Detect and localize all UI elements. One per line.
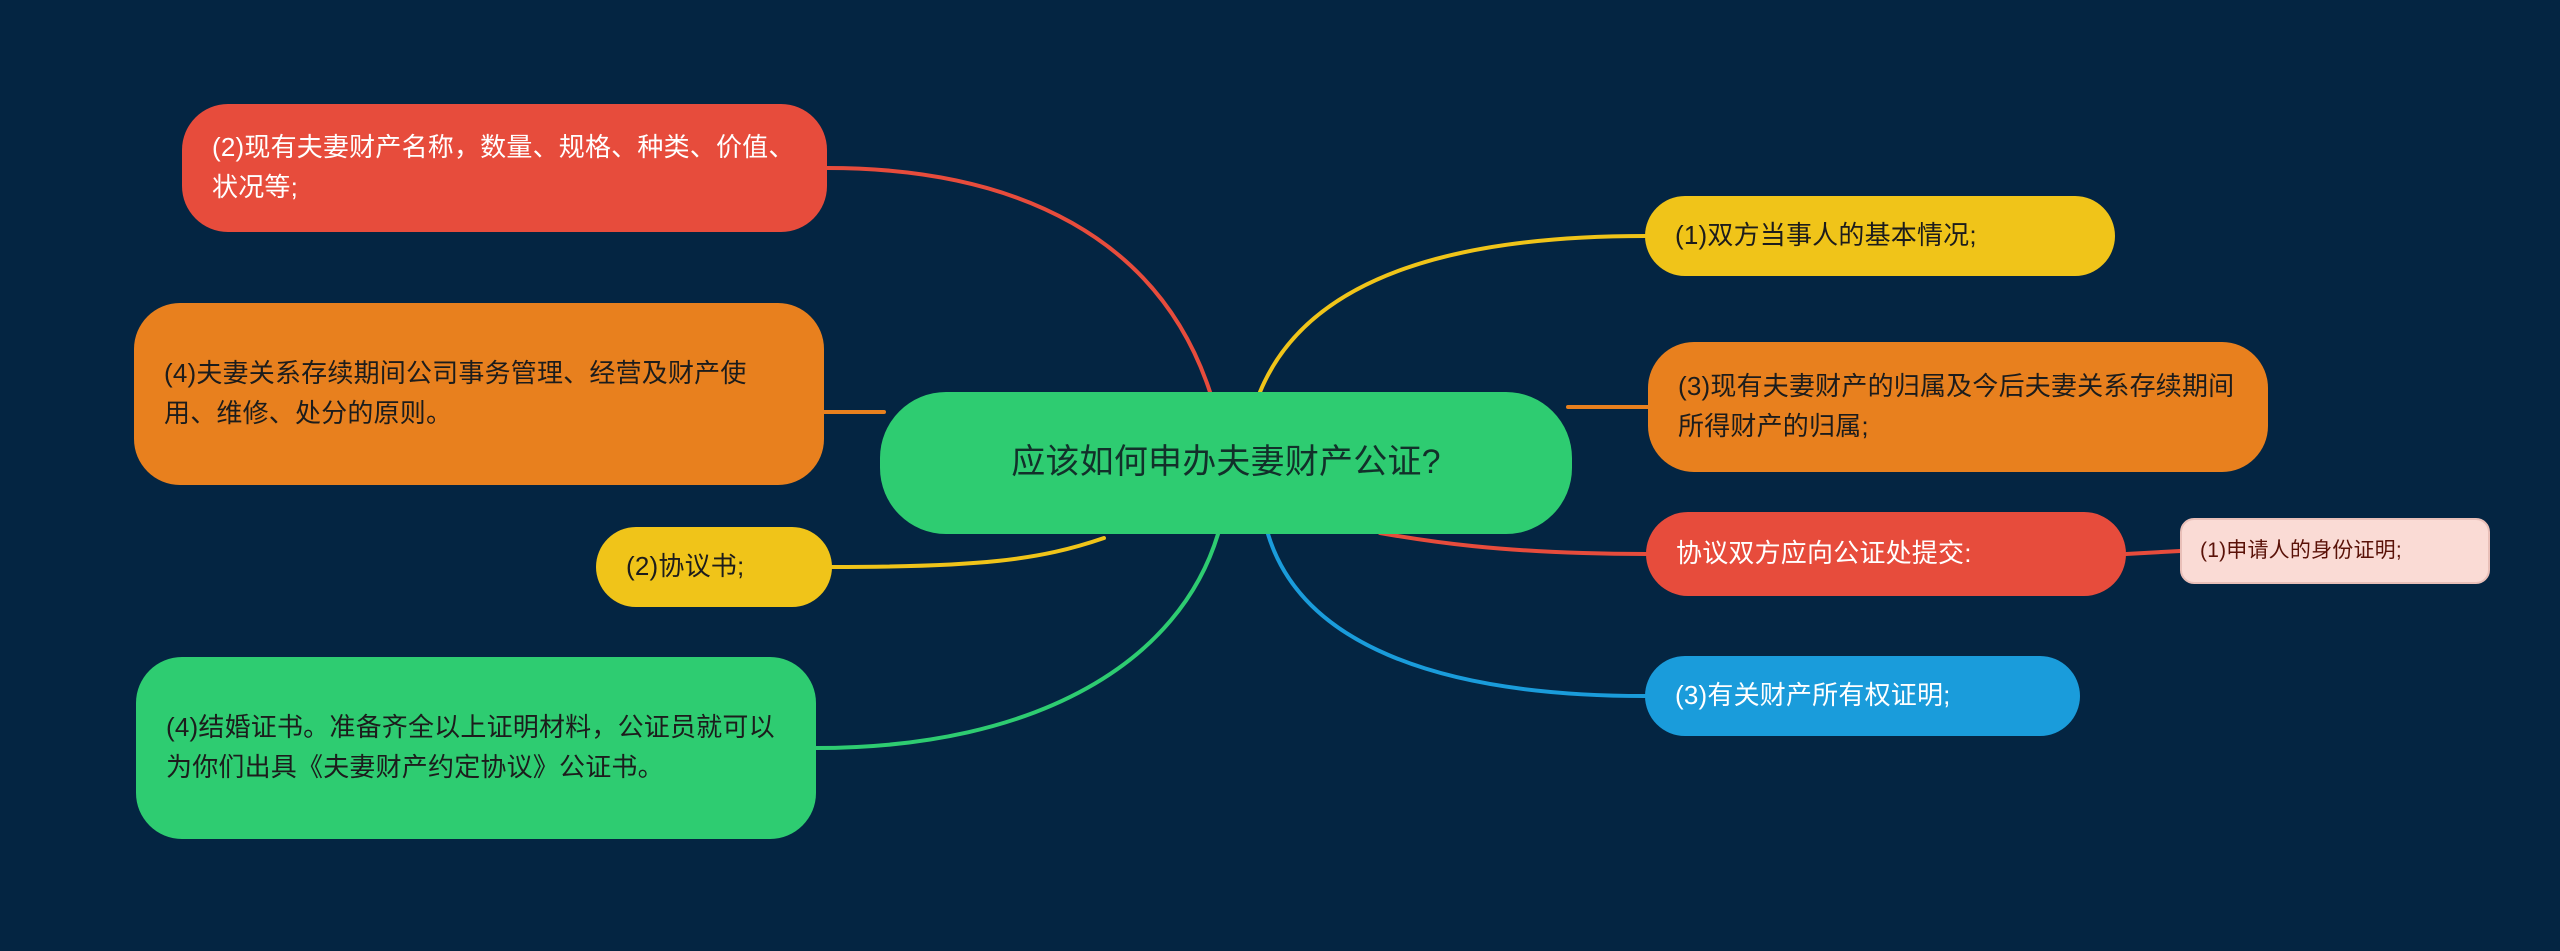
branch-property-ownership-label: (3)现有夫妻财产的归属及今后夫妻关系存续期间所得财产的归属;: [1678, 367, 2238, 446]
branch-ownership-proof-label: (3)有关财产所有权证明;: [1675, 676, 2050, 716]
mindmap-canvas: 应该如何申办夫妻财产公证?(2)现有夫妻财产名称，数量、规格、种类、价值、状况等…: [0, 0, 2560, 951]
branch-management-principles[interactable]: (4)夫妻关系存续期间公司事务管理、经营及财产使用、维修、处分的原则。: [134, 303, 824, 485]
branch-ownership-proof[interactable]: (3)有关财产所有权证明;: [1645, 656, 2080, 736]
edge-root-to-agreement-document: [832, 538, 1104, 567]
branch-basic-situation[interactable]: (1)双方当事人的基本情况;: [1645, 196, 2115, 276]
branch-property-description[interactable]: (2)现有夫妻财产名称，数量、规格、种类、价值、状况等;: [182, 104, 827, 232]
root-node[interactable]: 应该如何申办夫妻财产公证?: [880, 392, 1572, 534]
branch-marriage-certificate[interactable]: (4)结婚证书。准备齐全以上证明材料，公证员就可以为你们出具《夫妻财产约定协议》…: [136, 657, 816, 839]
branch-agreement-document[interactable]: (2)协议书;: [596, 527, 832, 607]
branch-management-principles-label: (4)夫妻关系存续期间公司事务管理、经营及财产使用、维修、处分的原则。: [164, 354, 794, 433]
edge-submit-to-identity-proof: [2126, 551, 2180, 554]
edge-root-to-basic-situation: [1260, 236, 1645, 392]
branch-property-ownership[interactable]: (3)现有夫妻财产的归属及今后夫妻关系存续期间所得财产的归属;: [1648, 342, 2268, 472]
branch-submit-to-notary-label: 协议双方应向公证处提交:: [1676, 534, 2096, 574]
leaf-identity-proof[interactable]: (1)申请人的身份证明;: [2180, 518, 2490, 584]
edge-root-to-ownership-proof: [1268, 534, 1645, 696]
branch-marriage-certificate-label: (4)结婚证书。准备齐全以上证明材料，公证员就可以为你们出具《夫妻财产约定协议》…: [166, 708, 786, 787]
leaf-identity-proof-label: (1)申请人的身份证明;: [2200, 535, 2470, 567]
branch-property-description-label: (2)现有夫妻财产名称，数量、规格、种类、价值、状况等;: [212, 128, 797, 207]
branch-basic-situation-label: (1)双方当事人的基本情况;: [1675, 216, 2085, 256]
branch-submit-to-notary[interactable]: 协议双方应向公证处提交:: [1646, 512, 2126, 596]
edge-root-to-submit-to-notary: [1380, 533, 1646, 554]
branch-agreement-document-label: (2)协议书;: [626, 547, 802, 587]
root-node-label: 应该如何申办夫妻财产公证?: [910, 437, 1542, 489]
edge-root-to-marriage-certificate: [816, 534, 1218, 748]
edge-root-to-property-description: [827, 168, 1210, 392]
